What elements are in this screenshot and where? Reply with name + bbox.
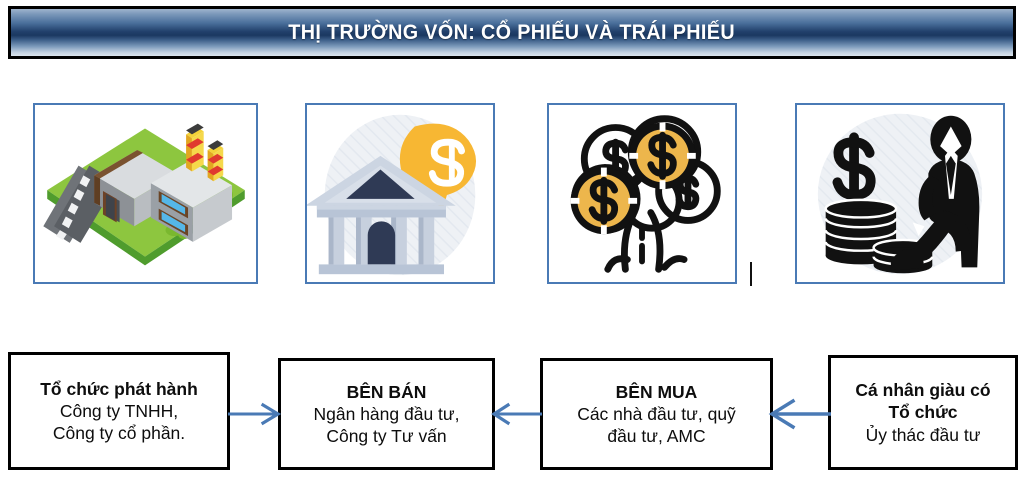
flow-box-wealth-line-3: Ủy thác đầu tư bbox=[866, 424, 981, 446]
flow-box-issuer-line-3: Công ty cổ phần. bbox=[53, 422, 185, 444]
investor-illustration bbox=[797, 105, 1003, 282]
flow-box-issuer-line-2: Công ty TNHH, bbox=[60, 400, 178, 422]
flow-box-wealth-line-1: Cá nhân giàu có bbox=[855, 379, 990, 401]
flow-box-buyer-line-3: đầu tư, AMC bbox=[607, 425, 705, 447]
arrow-buyer-to-seller bbox=[493, 398, 542, 432]
flow-box-wealth-individual[interactable]: Cá nhân giàu có Tổ chức Ủy thác đầu tư bbox=[828, 355, 1018, 470]
flow-box-issuer[interactable]: Tổ chức phát hành Công ty TNHH, Công ty … bbox=[8, 352, 230, 470]
page-title: THỊ TRƯỜNG VỐN: CỔ PHIẾU VÀ TRÁI PHIẾU bbox=[289, 21, 736, 45]
arrow-wealth-to-buyer bbox=[771, 398, 831, 432]
flow-box-seller-line-1: BÊN BÁN bbox=[347, 381, 427, 403]
title-banner: THỊ TRƯỜNG VỐN: CỔ PHIẾU VÀ TRÁI PHIẾU bbox=[8, 6, 1016, 59]
bank-illustration bbox=[307, 105, 493, 282]
flow-box-buyer[interactable]: BÊN MUA Các nhà đầu tư, quỹ đầu tư, AMC bbox=[540, 358, 773, 470]
flow-box-buyer-line-2: Các nhà đầu tư, quỹ bbox=[577, 403, 736, 425]
flow-box-buyer-line-1: BÊN MUA bbox=[616, 381, 698, 403]
flow-box-seller[interactable]: BÊN BÁN Ngân hàng đầu tư, Công ty Tư vấn bbox=[278, 358, 495, 470]
money-tree-illustration bbox=[549, 105, 735, 282]
panel-factory bbox=[33, 103, 258, 284]
arrow-issuer-to-seller bbox=[228, 398, 280, 432]
flow-box-seller-line-2: Ngân hàng đầu tư, bbox=[314, 403, 460, 425]
panel-moneytree bbox=[547, 103, 737, 284]
panel-investor bbox=[795, 103, 1005, 284]
panel-bank bbox=[305, 103, 495, 284]
stray-mark bbox=[750, 262, 752, 286]
flow-box-issuer-line-1: Tổ chức phát hành bbox=[40, 378, 198, 400]
factory-illustration bbox=[35, 105, 256, 282]
flow-box-seller-line-3: Công ty Tư vấn bbox=[326, 425, 446, 447]
flow-box-wealth-line-2: Tổ chức bbox=[888, 401, 957, 423]
